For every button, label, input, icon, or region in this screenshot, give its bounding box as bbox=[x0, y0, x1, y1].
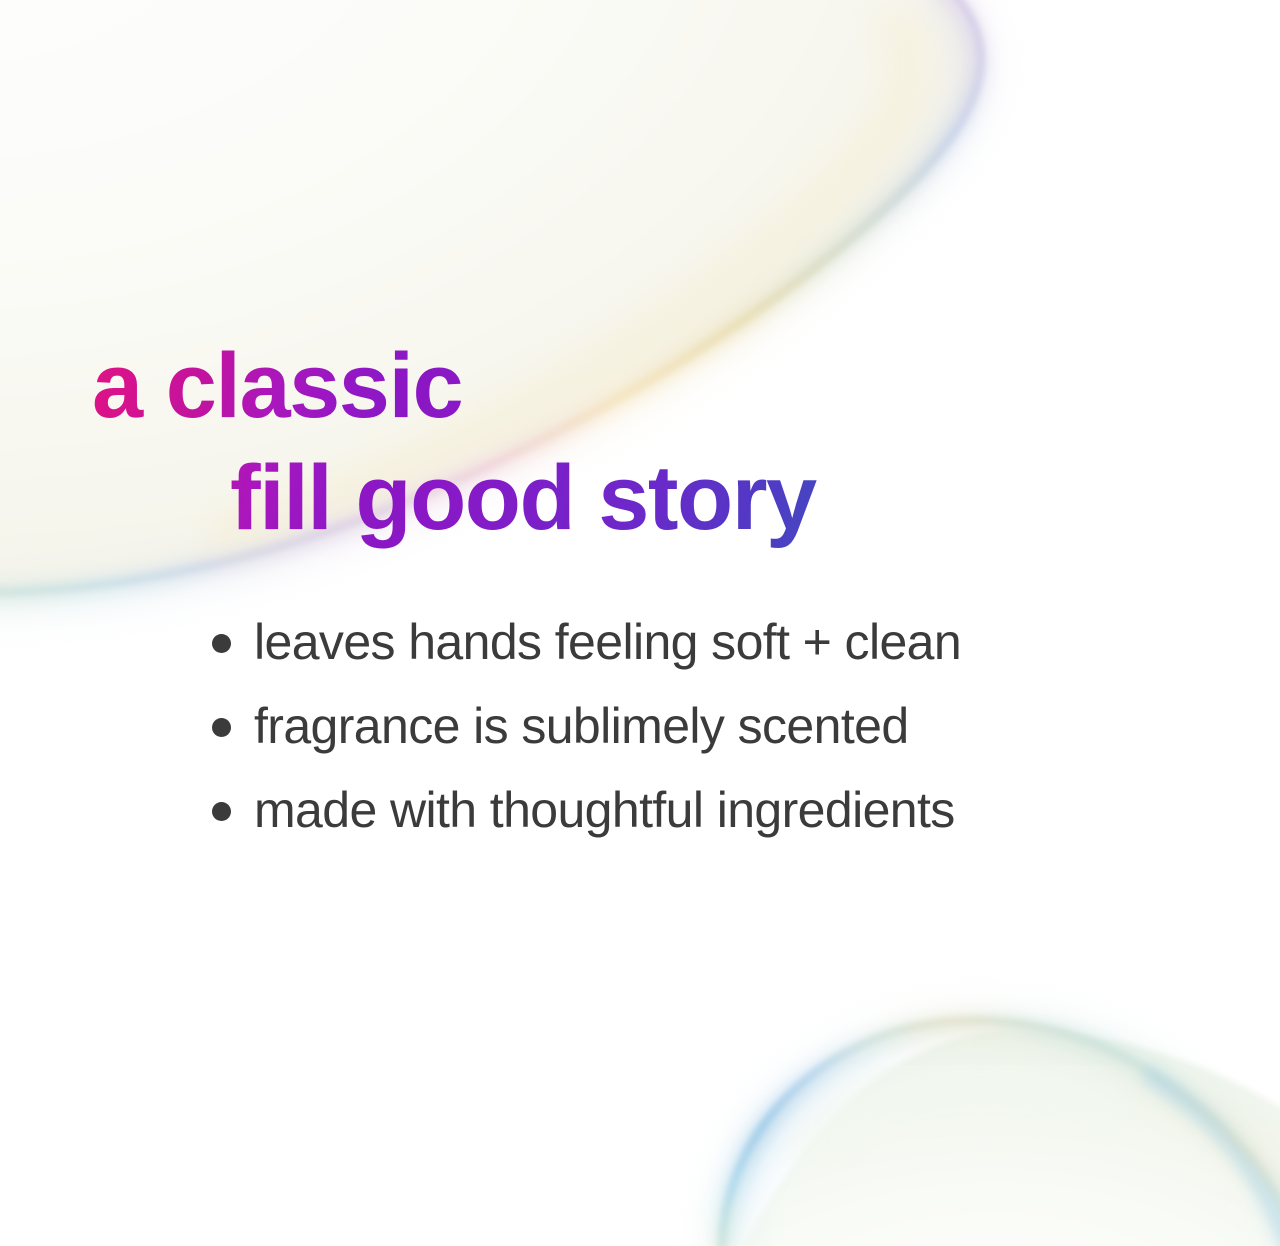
list-item: leaves hands feeling soft + clean bbox=[0, 600, 1280, 684]
bullet-dot-icon bbox=[212, 718, 231, 737]
list-item-label: made with thoughtful ingredients bbox=[254, 785, 955, 835]
headline-line-1: a classic bbox=[0, 330, 1280, 442]
list-item-label: fragrance is sublimely scented bbox=[254, 701, 909, 751]
list-item: made with thoughtful ingredients bbox=[0, 768, 1280, 852]
headline-line-2: fill good story bbox=[0, 442, 1280, 554]
poster-content: a classic fill good story leaves hands f… bbox=[0, 0, 1280, 1246]
feature-list: leaves hands feeling soft + clean fragra… bbox=[0, 600, 1280, 852]
bullet-dot-icon bbox=[212, 802, 231, 821]
promo-poster: a classic fill good story leaves hands f… bbox=[0, 0, 1280, 1246]
page-title: a classic fill good story bbox=[0, 330, 1280, 554]
list-item-label: leaves hands feeling soft + clean bbox=[254, 617, 961, 667]
list-item: fragrance is sublimely scented bbox=[0, 684, 1280, 768]
bullet-dot-icon bbox=[212, 634, 231, 653]
